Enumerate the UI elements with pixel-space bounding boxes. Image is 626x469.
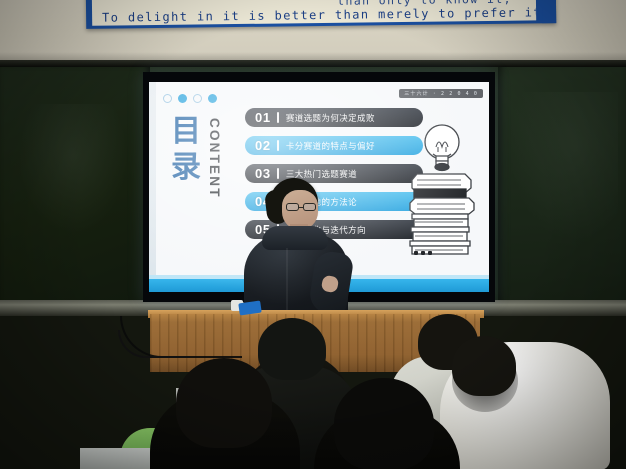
agenda-separator bbox=[277, 140, 279, 151]
chalk-smudge bbox=[18, 104, 128, 234]
teacher bbox=[236, 178, 354, 318]
agenda-number: 01 bbox=[255, 110, 271, 125]
student-head-3 bbox=[334, 378, 434, 469]
agenda-label: 赛道选题为何决定成败 bbox=[286, 112, 375, 124]
student-head-1 bbox=[258, 318, 326, 380]
teacher-glasses-icon bbox=[286, 203, 318, 211]
slide-title-block: 目录 CONTENT bbox=[161, 114, 239, 234]
slide-dot-row bbox=[163, 94, 217, 103]
student-head-2 bbox=[176, 358, 272, 448]
slide-watermark: 三十六计 · 2 2 0 4 0 bbox=[399, 89, 483, 98]
dot-filled-2 bbox=[208, 94, 217, 103]
blackboard-right-panel bbox=[498, 62, 626, 316]
dot-outline-1 bbox=[163, 94, 172, 103]
agenda-separator bbox=[277, 112, 279, 123]
teacher-hood bbox=[262, 226, 328, 250]
agenda-number: 02 bbox=[255, 138, 271, 153]
lightbulb-books-icon bbox=[405, 116, 479, 258]
classroom-photo: than only to know it, To delight in it i… bbox=[0, 0, 626, 469]
chalk-smudge bbox=[508, 92, 618, 242]
motto-banner-edge bbox=[542, 0, 556, 23]
dot-outline-2 bbox=[193, 94, 202, 103]
agenda-item-02: 02 卡分赛道的特点与偏好 bbox=[245, 136, 423, 155]
dot-filled-1 bbox=[178, 94, 187, 103]
agenda-label: 卡分赛道的特点与偏好 bbox=[286, 140, 375, 152]
slide-left-edge bbox=[149, 82, 156, 292]
slide-title-en: CONTENT bbox=[207, 118, 222, 199]
student-head-5 bbox=[452, 336, 516, 396]
agenda-item-01: 01 赛道选题为何决定成败 bbox=[245, 108, 423, 127]
slide-title-cn: 目录 bbox=[167, 114, 207, 186]
desk-surface bbox=[80, 448, 150, 469]
motto-banner-paper: than only to know it, To delight in it i… bbox=[92, 0, 536, 26]
students-group bbox=[0, 300, 626, 469]
blackboard-top-rail bbox=[0, 60, 626, 67]
blackboard-left-panel bbox=[0, 64, 150, 314]
